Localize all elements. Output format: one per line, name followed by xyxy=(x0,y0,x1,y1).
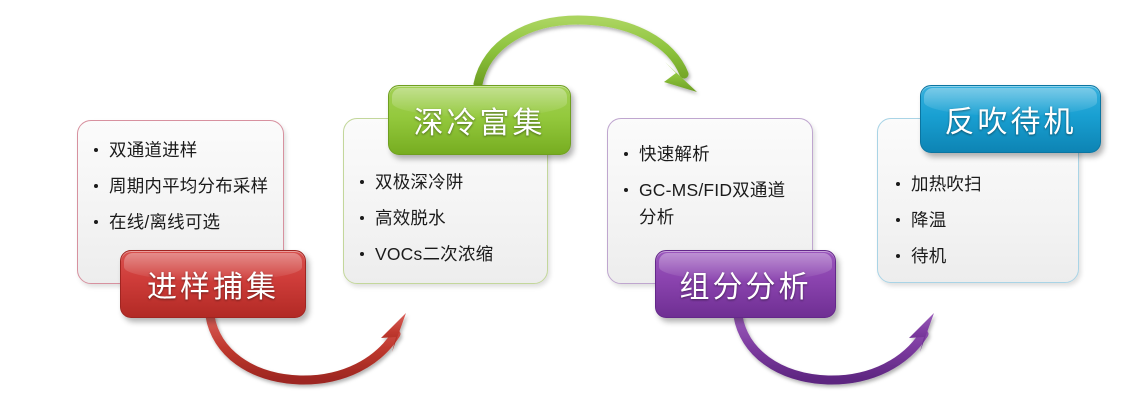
list-item: 快速解析 xyxy=(622,141,798,168)
list-item: GC-MS/FID双通道分析 xyxy=(622,177,798,231)
stage-1-bullet-list: 双通道进样 周期内平均分布采样 在线/离线可选 xyxy=(78,121,283,236)
list-item: 待机 xyxy=(894,243,1064,270)
stage-label-chip-4[interactable]: 反吹待机 xyxy=(920,85,1101,153)
stage-label-text: 进样捕集 xyxy=(147,262,279,306)
list-item: 在线/离线可选 xyxy=(92,209,269,236)
stage-3-bullet-list: 快速解析 GC-MS/FID双通道分析 xyxy=(608,119,812,231)
stage-label-chip-3[interactable]: 组分分析 xyxy=(655,250,836,318)
list-item: 双通道进样 xyxy=(92,137,269,164)
stage-label-text: 组分分析 xyxy=(680,262,812,306)
list-item: 降温 xyxy=(894,207,1064,234)
stage-label-chip-2[interactable]: 深冷富集 xyxy=(388,85,571,155)
list-item: 双极深冷阱 xyxy=(358,169,533,196)
stage-label-text: 深冷富集 xyxy=(414,98,546,142)
list-item: 加热吹扫 xyxy=(894,171,1064,198)
stage-label-text: 反吹待机 xyxy=(945,97,1077,141)
connector-arrow-red xyxy=(210,313,406,380)
process-flow-diagram: 双通道进样 周期内平均分布采样 在线/离线可选 进样捕集 双极深冷阱 高效脱水 … xyxy=(0,0,1143,406)
list-item: 周期内平均分布采样 xyxy=(92,173,269,200)
list-item: 高效脱水 xyxy=(358,205,533,232)
connector-arrow-green xyxy=(478,20,697,92)
stage-label-chip-1[interactable]: 进样捕集 xyxy=(120,250,306,318)
list-item: VOCs二次浓缩 xyxy=(358,241,533,268)
connector-arrow-purple xyxy=(738,313,934,380)
